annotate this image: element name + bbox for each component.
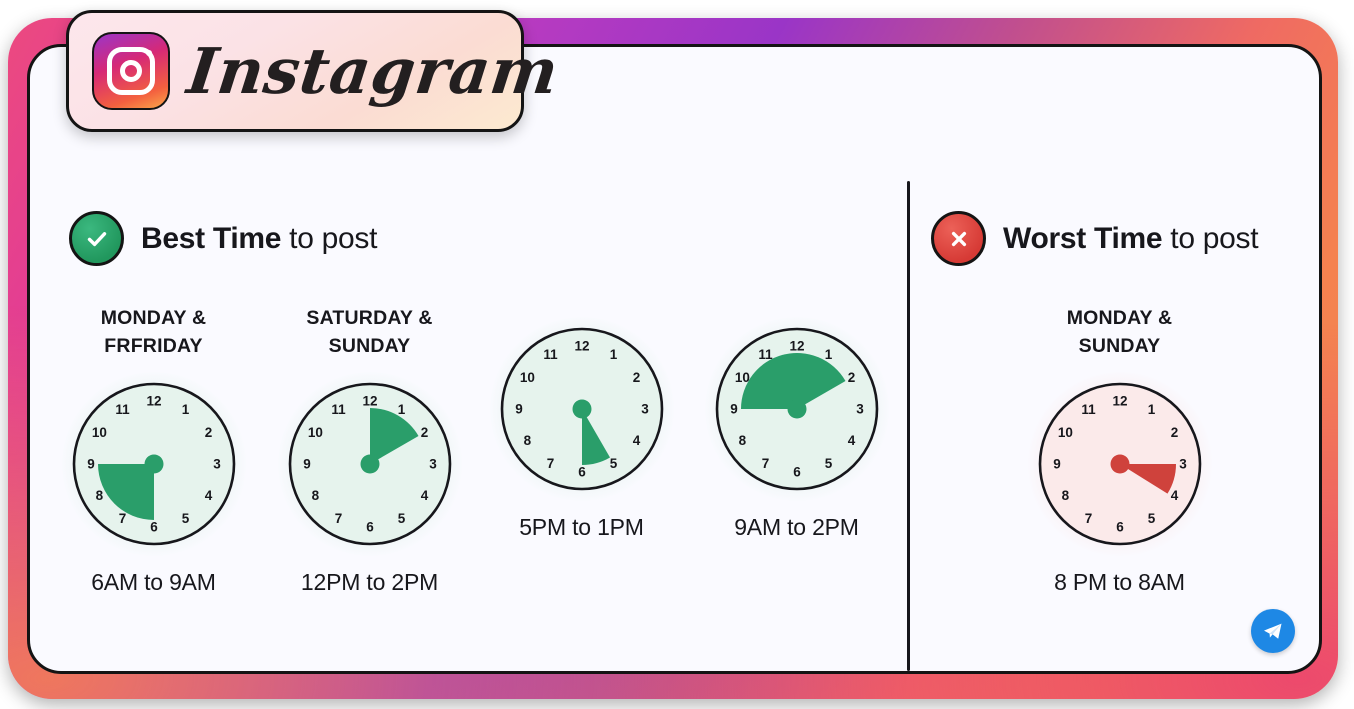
svg-text:5: 5: [609, 456, 617, 471]
section-divider: [907, 181, 910, 671]
svg-text:7: 7: [1084, 511, 1092, 526]
svg-text:12: 12: [146, 394, 161, 409]
svg-text:10: 10: [734, 370, 749, 385]
best-time-header: Best Time to post: [69, 211, 377, 266]
svg-text:6: 6: [366, 520, 374, 535]
worst-time-title: Worst Time to post: [1003, 222, 1258, 256]
instagram-wordmark: Instagram: [184, 40, 562, 103]
svg-text:5: 5: [1147, 511, 1155, 526]
time-range-caption: 8 PM to 8AM: [1012, 569, 1227, 596]
clock-face: 121234567891011: [284, 378, 456, 550]
svg-text:6: 6: [793, 465, 801, 480]
svg-text:8: 8: [738, 433, 746, 448]
x-circle-icon: [931, 211, 986, 266]
svg-text:3: 3: [213, 457, 221, 472]
best-column-3: 121234567891011 5PM to 1PM: [474, 305, 689, 541]
svg-text:4: 4: [1170, 488, 1178, 503]
svg-text:8: 8: [1061, 488, 1069, 503]
svg-text:7: 7: [334, 511, 342, 526]
instagram-icon: [92, 32, 170, 110]
svg-text:11: 11: [115, 402, 130, 417]
svg-text:2: 2: [204, 425, 212, 440]
time-range-caption: 6AM to 9AM: [46, 569, 261, 596]
day-label: MONDAY &FRFRIDAY: [46, 305, 261, 360]
time-range-caption: 12PM to 2PM: [262, 569, 477, 596]
svg-text:11: 11: [331, 402, 346, 417]
infographic-root: Best Time to post Worst Time to post MON…: [0, 0, 1354, 709]
svg-text:3: 3: [856, 402, 864, 417]
check-circle-icon: [69, 211, 124, 266]
clock-face: 121234567891011: [711, 323, 883, 495]
svg-text:8: 8: [95, 488, 103, 503]
svg-text:11: 11: [543, 347, 558, 362]
svg-text:1: 1: [397, 402, 405, 417]
worst-time-header: Worst Time to post: [931, 211, 1258, 266]
svg-text:11: 11: [758, 347, 773, 362]
clock-face: 121234567891011: [1034, 378, 1206, 550]
svg-text:11: 11: [1081, 402, 1096, 417]
clock-9am-2pm: 121234567891011: [711, 323, 883, 495]
svg-text:2: 2: [420, 425, 428, 440]
clock-6am-9am: 121234567891011: [68, 378, 240, 550]
svg-text:6: 6: [578, 465, 586, 480]
clock-12pm-2pm: 121234567891011: [284, 378, 456, 550]
worst-time-title-strong: Worst Time: [1003, 222, 1162, 255]
svg-text:1: 1: [609, 347, 617, 362]
svg-text:7: 7: [761, 456, 769, 471]
svg-text:9: 9: [730, 402, 738, 417]
svg-text:10: 10: [91, 425, 106, 440]
best-time-title-light: to post: [281, 222, 377, 255]
svg-text:4: 4: [632, 433, 640, 448]
svg-text:10: 10: [307, 425, 322, 440]
svg-text:2: 2: [1170, 425, 1178, 440]
svg-text:7: 7: [546, 456, 554, 471]
svg-text:9: 9: [1053, 457, 1061, 472]
best-column-4: 121234567891011 9AM to 2PM: [689, 305, 904, 541]
svg-text:12: 12: [789, 339, 804, 354]
svg-text:1: 1: [824, 347, 832, 362]
clock-face: 121234567891011: [68, 378, 240, 550]
svg-text:9: 9: [303, 457, 311, 472]
svg-text:8: 8: [311, 488, 319, 503]
svg-text:5: 5: [181, 511, 189, 526]
best-time-title-strong: Best Time: [141, 222, 281, 255]
svg-text:12: 12: [362, 394, 377, 409]
svg-text:10: 10: [1057, 425, 1072, 440]
svg-text:1: 1: [181, 402, 189, 417]
worst-column-1: MONDAY &SUNDAY 121234567891011 8 PM to 8…: [1012, 305, 1227, 596]
clock-5pm-1pm: 121234567891011: [496, 323, 668, 495]
svg-text:3: 3: [1179, 457, 1187, 472]
time-range-caption: 9AM to 2PM: [689, 514, 904, 541]
svg-text:4: 4: [847, 433, 855, 448]
svg-text:3: 3: [429, 457, 437, 472]
svg-text:2: 2: [847, 370, 855, 385]
svg-text:1: 1: [1147, 402, 1155, 417]
svg-text:2: 2: [632, 370, 640, 385]
panels-container: Best Time to post Worst Time to post MON…: [30, 47, 1319, 671]
clock-8pm-8am: 121234567891011: [1034, 378, 1206, 550]
svg-text:5: 5: [397, 511, 405, 526]
clock-face: 121234567891011: [496, 323, 668, 495]
telegram-icon[interactable]: [1251, 609, 1295, 653]
instagram-badge: Instagram: [66, 10, 524, 132]
svg-text:9: 9: [515, 402, 523, 417]
svg-text:9: 9: [87, 457, 95, 472]
best-column-1: MONDAY &FRFRIDAY 121234567891011 6AM to …: [46, 305, 261, 596]
best-time-title: Best Time to post: [141, 222, 377, 256]
svg-text:10: 10: [519, 370, 534, 385]
svg-text:6: 6: [150, 520, 158, 535]
svg-text:12: 12: [1112, 394, 1127, 409]
day-label: MONDAY &SUNDAY: [1012, 305, 1227, 360]
svg-text:7: 7: [118, 511, 126, 526]
best-column-2: SATURDAY &SUNDAY 121234567891011 12PM to…: [262, 305, 477, 596]
svg-text:4: 4: [204, 488, 212, 503]
day-label: SATURDAY &SUNDAY: [262, 305, 477, 360]
svg-text:6: 6: [1116, 520, 1124, 535]
svg-text:12: 12: [574, 339, 589, 354]
content-card: Best Time to post Worst Time to post MON…: [27, 44, 1322, 674]
svg-text:8: 8: [523, 433, 531, 448]
time-range-caption: 5PM to 1PM: [474, 514, 689, 541]
svg-text:5: 5: [824, 456, 832, 471]
svg-text:3: 3: [641, 402, 649, 417]
svg-text:4: 4: [420, 488, 428, 503]
worst-time-title-light: to post: [1162, 222, 1258, 255]
